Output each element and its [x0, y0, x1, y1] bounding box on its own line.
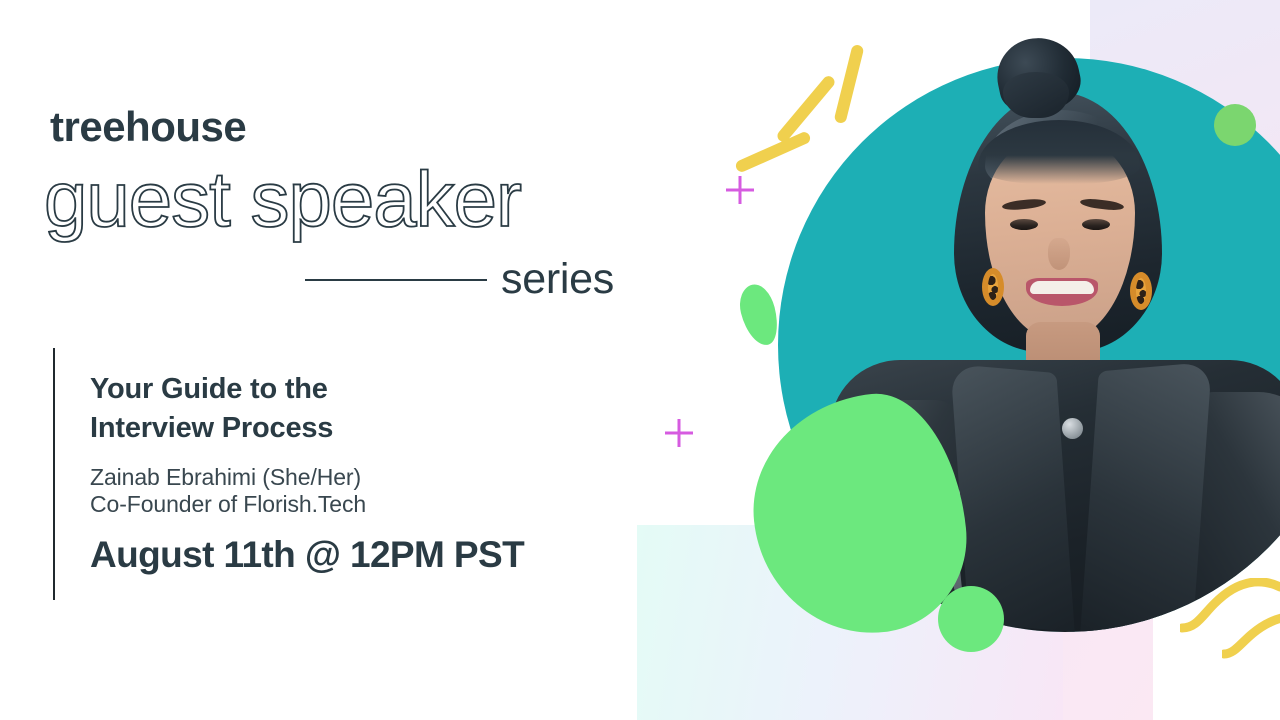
portrait-nose [1048, 238, 1070, 270]
plus-mark-icon [665, 419, 693, 447]
talk-title-line-2: Interview Process [90, 409, 333, 448]
leopard-hoop-earring-icon [1130, 272, 1152, 310]
portrait-eye-left [1010, 219, 1038, 230]
squiggle-line-icon [1222, 612, 1280, 672]
portrait-hair-bun-base [1003, 72, 1069, 118]
series-divider-rule [305, 279, 487, 281]
jacket-snap-button-icon [1062, 418, 1083, 439]
speaker-role: Co-Founder of Florish.Tech [90, 489, 366, 520]
promo-graphic-canvas: treehouse guest speaker series Your Guid… [0, 0, 1280, 720]
treehouse-wordmark: treehouse [50, 106, 246, 148]
leopard-hoop-earring-icon [982, 268, 1004, 306]
portrait-teeth [1030, 281, 1094, 294]
series-row: series [305, 258, 614, 301]
green-circle-decor [938, 586, 1004, 652]
talk-title-line-1: Your Guide to the [90, 370, 333, 409]
green-blob-decor-small [735, 281, 783, 349]
plus-mark-icon [726, 176, 754, 204]
series-label: series [501, 258, 614, 301]
left-accent-rule [53, 348, 55, 600]
portrait-eye-right [1082, 219, 1110, 230]
event-datetime: August 11th @ 12PM PST [90, 534, 524, 577]
talk-title: Your Guide to the Interview Process [90, 370, 333, 447]
headline-guest-speaker: guest speaker [44, 160, 521, 238]
